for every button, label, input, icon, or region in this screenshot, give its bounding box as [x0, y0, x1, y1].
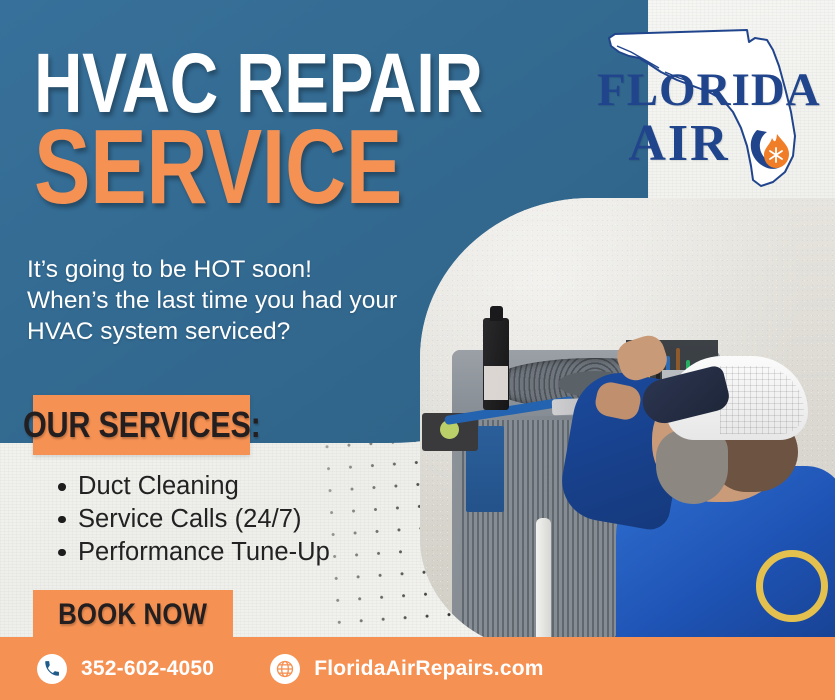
subcopy-line-3: HVAC system serviced? — [27, 317, 447, 348]
list-item: Duct Cleaning — [78, 470, 330, 503]
phone-icon — [37, 654, 67, 684]
phone-contact[interactable]: 352-602-4050 — [37, 654, 214, 684]
website-contact[interactable]: FloridaAirRepairs.com — [270, 654, 543, 684]
services-list: Duct Cleaning Service Calls (24/7) Perfo… — [52, 470, 330, 569]
technician-photo: 352- — [420, 198, 835, 653]
company-logo: FLORIDA AIR — [597, 16, 817, 196]
flame-snowflake-icon — [743, 120, 803, 180]
technician-beard — [656, 430, 728, 504]
spray-can-cap — [490, 306, 503, 321]
logo-line-florida: FLORIDA — [597, 68, 817, 113]
contact-footer: 352-602-4050 FloridaAirRepairs.com — [0, 637, 835, 700]
hvac-advertisement: HVAC REPAIR SERVICE It’s going to be HOT… — [0, 0, 835, 700]
book-now-button[interactable]: BOOK NOW — [33, 590, 233, 639]
list-item: Service Calls (24/7) — [78, 503, 330, 536]
website-url: FloridaAirRepairs.com — [314, 657, 543, 681]
subcopy-line-1: It’s going to be HOT soon! — [27, 255, 447, 286]
phone-number: 352-602-4050 — [81, 657, 214, 681]
subcopy: It’s going to be HOT soon! When’s the la… — [27, 255, 447, 348]
refrigerant-pipe — [536, 518, 551, 653]
logo-line-air: AIR — [597, 119, 761, 169]
book-now-label: BOOK NOW — [58, 598, 207, 632]
services-heading-text: OUR SERVICES: — [23, 404, 261, 446]
subcopy-line-2: When’s the last time you had your — [27, 286, 447, 317]
list-item: Performance Tune-Up — [78, 536, 330, 569]
globe-icon — [270, 654, 300, 684]
shirt-logo-patch — [756, 550, 828, 622]
spray-can-label — [484, 366, 508, 400]
services-heading-banner: OUR SERVICES: — [33, 395, 250, 455]
